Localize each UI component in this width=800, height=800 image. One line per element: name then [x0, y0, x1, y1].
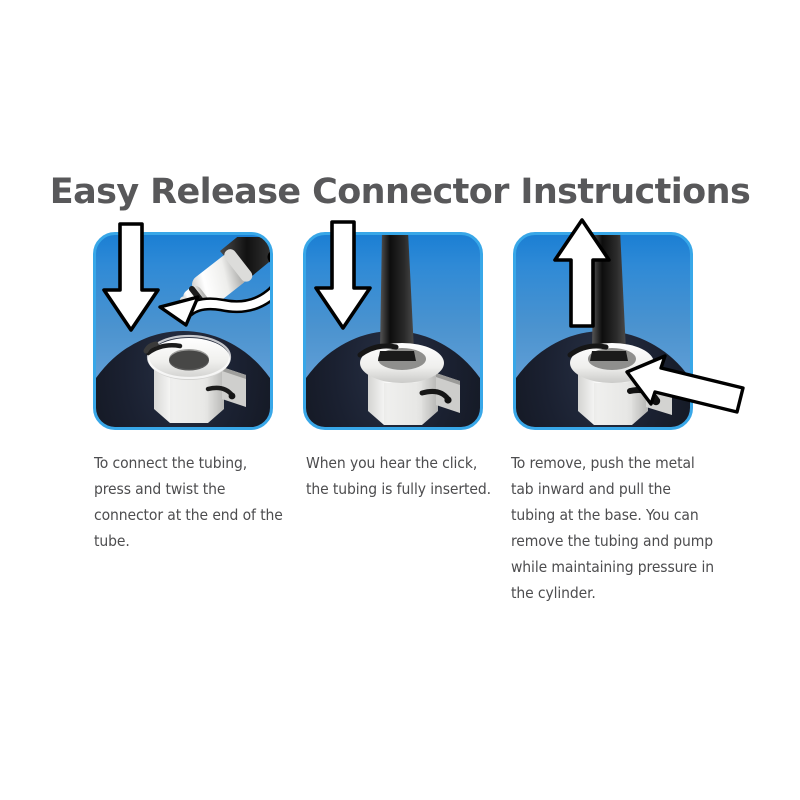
step-panel-1	[93, 232, 273, 430]
instruction-sheet: Easy Release Connector Instructions	[0, 0, 800, 800]
caption-step-2-text: When you hear the click, the tubing is f…	[306, 450, 491, 502]
caption-step-2: When you hear the click, the tubing is f…	[306, 450, 491, 502]
caption-step-1: To connect the tubing, press and twist t…	[94, 450, 284, 554]
caption-step-3: To remove, push the metal tab inward and…	[511, 450, 718, 606]
panel-2-dark-base	[303, 331, 483, 430]
page-title: Easy Release Connector Instructions	[0, 172, 800, 212]
twist-arrow	[146, 241, 273, 345]
panel-3-background	[513, 232, 693, 430]
caption-step-3-text: To remove, push the metal tab inward and…	[511, 450, 718, 606]
panel-1-background	[93, 232, 273, 430]
panel-2-background	[303, 232, 483, 430]
panel-3-dark-base	[513, 331, 693, 430]
detached-connector-and-tube	[168, 237, 273, 333]
step-panel-3	[513, 232, 693, 430]
step-panel-2	[303, 232, 483, 430]
panel-1-dark-base	[93, 331, 273, 430]
caption-step-1-text: To connect the tubing, press and twist t…	[94, 450, 284, 554]
